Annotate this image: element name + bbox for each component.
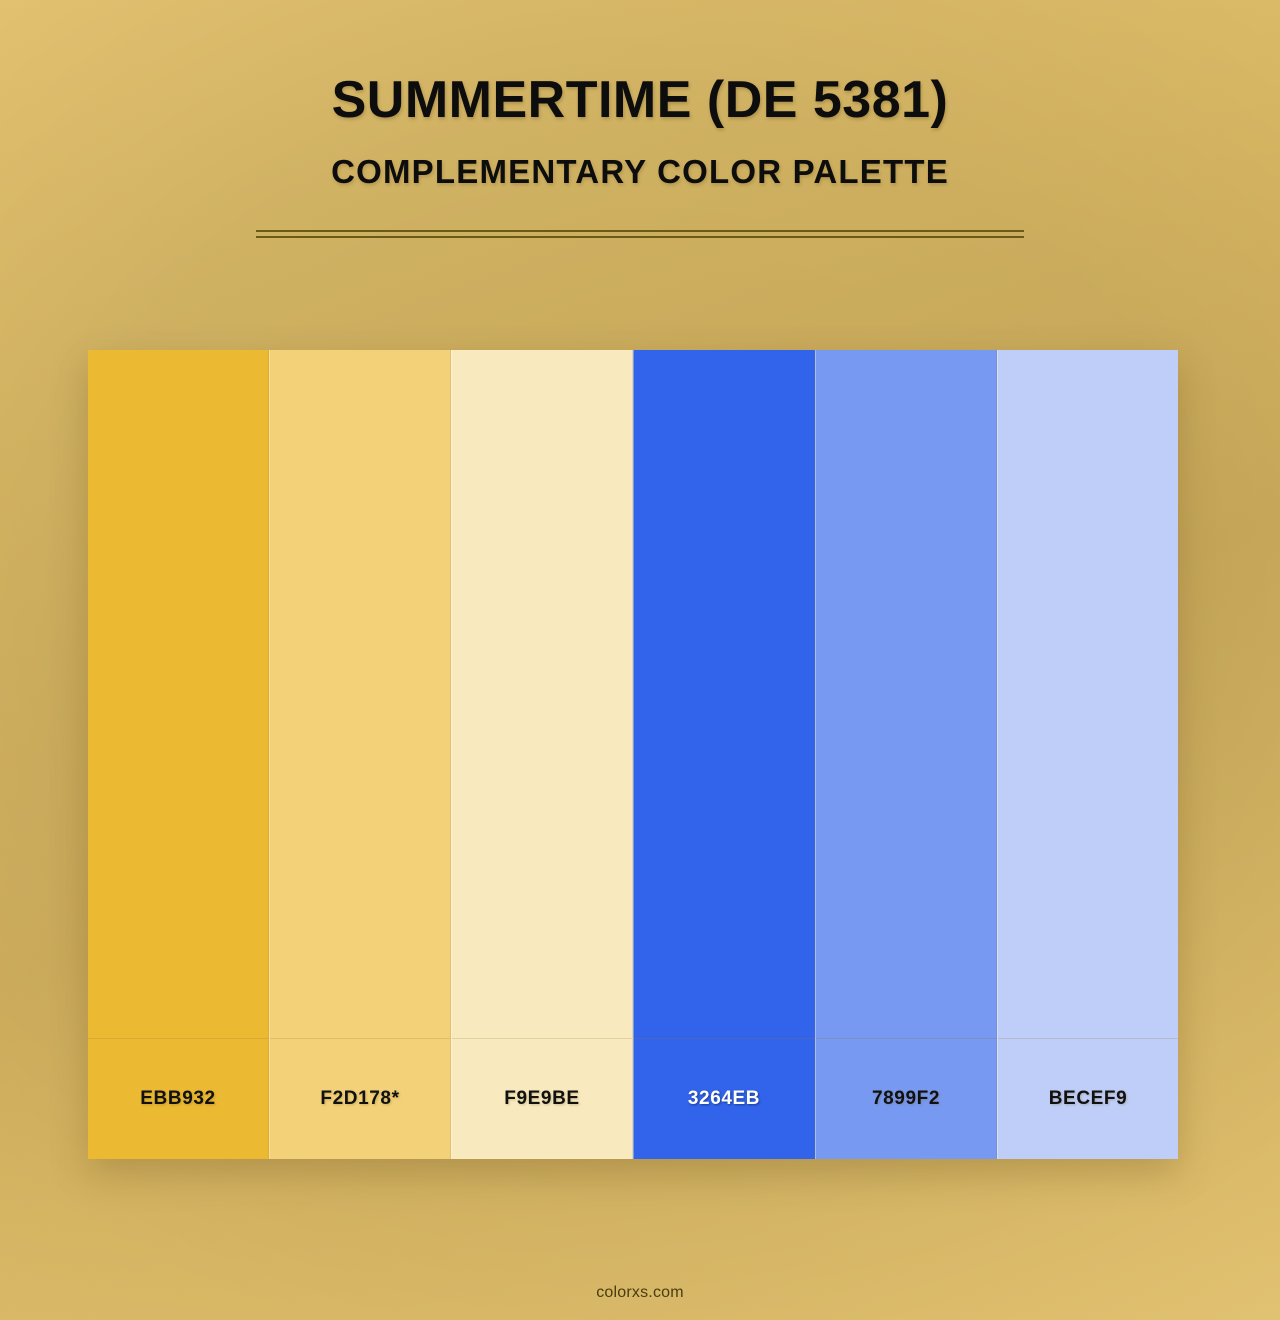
swatch-label-zone: F9E9BE bbox=[452, 1038, 632, 1159]
swatch-color-block bbox=[88, 350, 268, 1038]
swatch-hex-label: F2D178* bbox=[320, 1088, 399, 1110]
swatch-hex-label: F9E9BE bbox=[504, 1088, 579, 1110]
swatch-hex-label: 7899F2 bbox=[872, 1088, 940, 1110]
swatch-color-block bbox=[634, 350, 814, 1038]
swatch-color-block bbox=[816, 350, 996, 1038]
swatch-label-zone: 7899F2 bbox=[816, 1038, 996, 1159]
swatch-color-block bbox=[270, 350, 450, 1038]
color-swatch[interactable]: F2D178* bbox=[269, 350, 451, 1159]
swatch-hex-label: EBB932 bbox=[140, 1088, 215, 1110]
swatch-label-zone: 3264EB bbox=[634, 1038, 814, 1159]
header-divider bbox=[256, 230, 1024, 239]
page-root: SUMMERTIME (DE 5381) COMPLEMENTARY COLOR… bbox=[0, 0, 1280, 1320]
page-subtitle: COMPLEMENTARY COLOR PALETTE bbox=[0, 128, 1280, 190]
swatch-hex-label: BECEF9 bbox=[1049, 1088, 1128, 1110]
color-swatch[interactable]: 7899F2 bbox=[815, 350, 997, 1159]
color-swatch[interactable]: 3264EB bbox=[633, 350, 815, 1159]
color-swatch[interactable]: EBB932 bbox=[88, 350, 269, 1159]
swatch-color-block bbox=[452, 350, 632, 1038]
divider-line-top bbox=[256, 230, 1024, 232]
site-brand: colorxs.com bbox=[596, 1284, 684, 1301]
swatch-color-block bbox=[998, 350, 1178, 1038]
color-swatch[interactable]: BECEF9 bbox=[997, 350, 1178, 1159]
color-swatch[interactable]: F9E9BE bbox=[451, 350, 633, 1159]
footer: colorxs.com bbox=[0, 1284, 1280, 1302]
divider-line-bottom bbox=[256, 236, 1024, 238]
page-title: SUMMERTIME (DE 5381) bbox=[0, 0, 1280, 128]
swatch-label-zone: EBB932 bbox=[88, 1038, 268, 1159]
color-palette: EBB932F2D178*F9E9BE3264EB7899F2BECEF9 bbox=[88, 350, 1178, 1159]
header: SUMMERTIME (DE 5381) COMPLEMENTARY COLOR… bbox=[0, 0, 1280, 190]
swatch-hex-label: 3264EB bbox=[688, 1088, 760, 1110]
swatch-label-zone: F2D178* bbox=[270, 1038, 450, 1159]
swatch-label-zone: BECEF9 bbox=[998, 1038, 1178, 1159]
